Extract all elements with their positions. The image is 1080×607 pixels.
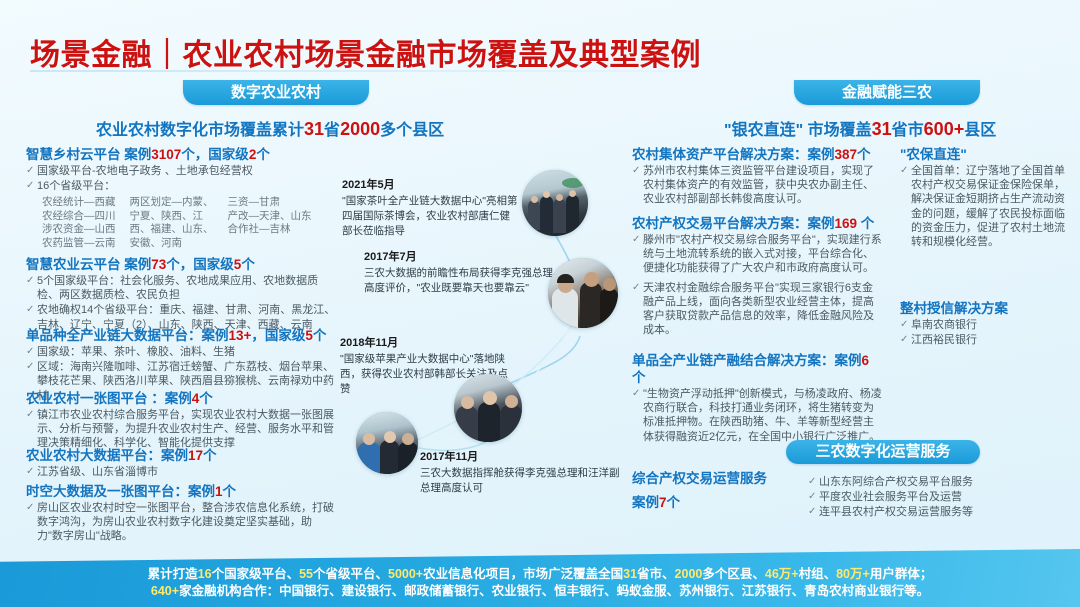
right-side-block-1-heading: 整村授信解决方案 — [900, 300, 1066, 317]
h-mid: 个，国家级 — [181, 147, 249, 162]
right-side-block-1: 整村授信解决方案 ✓阜南农商银行 ✓江西裕民银行 — [900, 300, 1066, 347]
province-col-1: 农经统计—西藏 农经综合—四川 涉农资金—山西 农药监管—云南 — [42, 196, 116, 250]
left-subtitle-num2: 2000 — [340, 119, 380, 139]
banner-text: 多个区县、 — [702, 567, 765, 581]
check-icon: ✓ — [632, 387, 643, 401]
left-block-4: 农业农村大数据平台：案例17个 ✓江苏省级、山东省淄博市 — [26, 447, 336, 479]
h-post: 个 — [223, 484, 237, 499]
banner-number: 16 — [198, 567, 212, 581]
h-num1: 6 — [862, 353, 870, 368]
right-subtitle-num2: 600+ — [924, 119, 965, 139]
timeline-date: 2017年7月 — [364, 250, 556, 265]
service-title-line1: 综合产权交易运营服务 — [632, 470, 792, 487]
province-platform-table: 农经统计—西藏 农经综合—四川 涉农资金—山西 农药监管—云南 两区划定—内蒙、… — [42, 196, 312, 250]
check-icon: ✓ — [26, 164, 37, 178]
h-post: 个 — [199, 391, 213, 406]
list-item: ✓"生物资产浮动抵押"创新模式，与杨凌政府、杨凌农商行联合，科技打通业务闭环，将… — [632, 387, 882, 444]
summary-banner-line-2: 640+家金融机构合作：中国银行、建设银行、邮政储蓄银行、农业银行、恒丰银行、蚂… — [0, 583, 1080, 600]
list-item-text: 国家级平台-农地电子政务 、土地承包经营权 — [37, 164, 332, 178]
province-col-3: 三资—甘肃 产改—天津、山东 合作社—吉林 — [228, 196, 312, 250]
timeline-text: 三农大数据指挥舱获得李克强总理和汪洋副总理高度认可 — [420, 467, 620, 494]
h-pre: 时空大数据及一张图平台：案例 — [26, 484, 215, 499]
check-icon: ✓ — [808, 475, 819, 489]
s-pre: 案例 — [632, 495, 659, 510]
check-icon: ✓ — [632, 233, 643, 247]
check-icon: ✓ — [26, 501, 37, 515]
list-item: ✓国家级平台-农地电子政务 、土地承包经营权 — [26, 164, 332, 178]
timeline-date: 2021年5月 — [342, 178, 518, 193]
list-item: ✓国家级：苹果、茶叶、橡胶、油料、生猪 — [26, 345, 336, 359]
summary-banner: 累计打造16个国家级平台、55个省级平台、5000+农业信息化项目，市场广泛覆盖… — [0, 549, 1080, 607]
banner-number: 5000+ — [388, 567, 423, 581]
timeline-note-1: 2017年7月 三农大数据的前瞻性布局获得李克强总理高度评价，"农业既要靠天也要… — [364, 250, 556, 296]
list-item-text: 国家级：苹果、茶叶、橡胶、油料、生猪 — [37, 345, 336, 359]
banner-text: 累计打造 — [148, 567, 198, 581]
left-block-0: 智慧乡村云平台 案例3107个，国家级2个 ✓国家级平台-农地电子政务 、土地承… — [26, 146, 332, 193]
list-item-text: 阜南农商银行 — [911, 318, 1066, 332]
timeline-photo-2 — [454, 374, 522, 442]
list-item-text: 5个国家级平台：社会化服务、农地成果应用、农地数据质检、两区数据质检、农民负担 — [37, 274, 336, 302]
summary-banner-line-1: 累计打造16个国家级平台、55个省级平台、5000+农业信息化项目，市场广泛覆盖… — [0, 566, 1080, 583]
banner-text: 村组、 — [799, 567, 837, 581]
check-icon: ✓ — [808, 490, 819, 504]
s-num: 7 — [659, 495, 667, 510]
right-block-0-heading: 农村集体资产平台解决方案：案例387个 — [632, 146, 882, 163]
left-block-3-heading: 农业农村一张图平台 ：案例4个 — [26, 390, 336, 407]
banner-number: 55 — [299, 567, 313, 581]
right-subtitle-mid: 省市 — [892, 122, 924, 139]
timeline-date: 2018年11月 — [340, 336, 516, 351]
timeline-panel: 2021年5月 "国家茶叶全产业链大数据中心"亮相第四届国际茶博会，农业农村部唐… — [336, 150, 632, 520]
list-item: ✓平度农业社会服务平台及运营 — [808, 490, 1058, 504]
right-column-subtitle: "银农直连" 市场覆盖31省市600+县区 — [724, 116, 996, 140]
h-num1: 13+ — [229, 328, 252, 343]
list-item-text: 滕州市"农村产权交易综合服务平台"，实现建行系统与土地流转系统的嵌入式对接，平台… — [643, 233, 882, 276]
right-block-0: 农村集体资产平台解决方案：案例387个 ✓苏州市农村集体三资监管平台建设项目，实… — [632, 146, 882, 207]
left-block-1: 智慧农业云平台 案例73个，国家级5个 ✓5个国家级平台：社会化服务、农地成果应… — [26, 256, 336, 332]
check-icon: ✓ — [900, 333, 911, 347]
h-post: 个 — [857, 147, 871, 162]
left-block-1-heading: 智慧农业云平台 案例73个，国家级5个 — [26, 256, 336, 273]
check-icon: ✓ — [808, 505, 819, 519]
banner-text: 农业信息化项目，市场广泛覆盖全国 — [423, 567, 623, 581]
left-block-5: 时空大数据及一张图平台：案例1个 ✓房山区农业农村时空一张图平台，整合涉农信息化… — [26, 483, 336, 544]
timeline-photo-0 — [522, 170, 588, 236]
left-subtitle-mid: 省 — [324, 122, 340, 139]
list-item-text: 全国首单：辽宁落地了全国首单农村产权交易保证金保险保单，解决保证金短期挤占生产流… — [911, 164, 1066, 249]
check-icon: ✓ — [26, 408, 37, 422]
timeline-note-3: 2017年11月 三农大数据指挥舱获得李克强总理和汪洋副总理高度认可 — [420, 450, 620, 496]
right-block-1-heading: 农村产权交易平台解决方案：案例169 个 — [632, 215, 882, 232]
h-post: 个 — [632, 370, 646, 385]
check-icon: ✓ — [26, 179, 37, 193]
h-num2: 5 — [305, 328, 313, 343]
timeline-text: "国家茶叶全产业链大数据中心"亮相第四届国际茶博会，农业农村部唐仁健部长莅临指导 — [342, 195, 517, 237]
timeline-date: 2017年11月 — [420, 450, 620, 465]
province-col-2: 两区划定—内蒙、 宁夏、陕西、江 西、福建、山东、 安徽、河南 — [130, 196, 214, 250]
title-divider — [30, 70, 698, 72]
right-block-1: 农村产权交易平台解决方案：案例169 个 ✓滕州市"农村产权交易综合服务平台"，… — [632, 215, 882, 337]
list-item-text: 连平县农村产权交易运营服务等 — [819, 505, 1058, 519]
h-pre: 农业农村一张图平台 ：案例 — [26, 391, 192, 406]
list-item: ✓江西裕民银行 — [900, 333, 1066, 347]
list-item-text: 16个省级平台： — [37, 179, 332, 193]
list-item-text: "生物资产浮动抵押"创新模式，与杨凌政府、杨凌农商行联合，科技打通业务闭环，将生… — [643, 387, 882, 444]
service-items-block: ✓山东东阿综合产权交易平台服务 ✓平度农业社会服务平台及运营 ✓连平县农村产权交… — [808, 474, 1058, 520]
service-pill-digital-operation: 三农数字化运营服务 — [786, 440, 980, 464]
left-block-3: 农业农村一张图平台 ：案例4个 ✓镇江市农业农村综合服务平台，实现农业农村大数据… — [26, 390, 336, 451]
h-num1: 73 — [151, 257, 166, 272]
right-side-block-0: "农保直连" ✓全国首单：辽宁落地了全国首单农村产权交易保证金保险保单，解决保证… — [900, 146, 1066, 249]
left-subtitle-num1: 31 — [304, 119, 324, 139]
list-item-text: 江苏省级、山东省淄博市 — [37, 465, 336, 479]
h-post: 个 — [313, 328, 327, 343]
h-post: 个 — [241, 257, 255, 272]
right-subtitle-post: 县区 — [964, 122, 996, 139]
list-item: ✓江苏省级、山东省淄博市 — [26, 465, 336, 479]
check-icon: ✓ — [26, 465, 37, 479]
check-icon: ✓ — [26, 303, 37, 317]
list-item-text: 苏州市农村集体三资监管平台建设项目，实现了农村集体资产的有效监管，获中央农办副主… — [643, 164, 882, 207]
list-item: ✓5个国家级平台：社会化服务、农地成果应用、农地数据质检、两区数据质检、农民负担 — [26, 274, 336, 302]
timeline-photo-3 — [356, 412, 418, 474]
h-post: 个 — [203, 448, 217, 463]
right-block-2: 单品全产业链产融结合解决方案：案例6个 ✓"生物资产浮动抵押"创新模式，与杨凌政… — [632, 352, 882, 444]
h-pre: 单品全产业链产融结合解决方案：案例 — [632, 353, 862, 368]
h-pre: 智慧乡村云平台 案例 — [26, 147, 151, 162]
page-title: 场景金融｜农业农村场景金融市场覆盖及典型案例 — [30, 30, 701, 74]
h-post: 个 — [857, 216, 874, 231]
section-pill-digital-agriculture: 数字农业农村 — [183, 80, 369, 105]
list-item: ✓滕州市"农村产权交易综合服务平台"，实现建行系统与土地流转系统的嵌入式对接，平… — [632, 233, 882, 276]
list-item-text: 天津农村金融综合服务平台"实现三家银行6支金融产品上线，面向各类新型农业经营主体… — [643, 281, 882, 338]
section-pill-finance-empower: 金融赋能三农 — [794, 80, 980, 105]
h-num1: 387 — [835, 147, 858, 162]
banner-number: 46万+ — [765, 567, 799, 581]
left-block-5-heading: 时空大数据及一张图平台：案例1个 — [26, 483, 336, 500]
h-num1: 1 — [215, 484, 223, 499]
check-icon: ✓ — [632, 281, 643, 295]
left-block-2-heading: 单品种全产业链大数据平台：案例13+，国家级5个 — [26, 327, 336, 344]
list-item: ✓苏州市农村集体三资监管平台建设项目，实现了农村集体资产的有效监管，获中央农办副… — [632, 164, 882, 207]
check-icon: ✓ — [26, 345, 37, 359]
banner-text: 省市、 — [637, 567, 675, 581]
service-title-block: 综合产权交易运营服务 案例7个 — [632, 470, 792, 512]
check-icon: ✓ — [900, 164, 911, 178]
h-pre: 单品种全产业链大数据平台：案例 — [26, 328, 229, 343]
list-item: ✓连平县农村产权交易运营服务等 — [808, 505, 1058, 519]
banner-text: 个国家级平台、 — [212, 567, 300, 581]
h-num1: 169 — [835, 216, 858, 231]
h-pre: 农村产权交易平台解决方案：案例 — [632, 216, 835, 231]
left-column-subtitle: 农业农村数字化市场覆盖累计31省2000多个县区 — [96, 116, 444, 140]
s-post: 个 — [667, 495, 681, 510]
service-title-line2: 案例7个 — [632, 494, 792, 511]
h-mid: 个，国家级 — [166, 257, 234, 272]
check-icon: ✓ — [26, 360, 37, 374]
check-icon: ✓ — [26, 274, 37, 288]
list-item: ✓16个省级平台： — [26, 179, 332, 193]
list-item-text: 江西裕民银行 — [911, 333, 1066, 347]
right-side-block-0-heading: "农保直连" — [900, 146, 1066, 163]
banner-text: 个省级平台、 — [313, 567, 388, 581]
list-item: ✓阜南农商银行 — [900, 318, 1066, 332]
banner-number: 640+ — [151, 584, 179, 598]
banner-number: 80万+ — [836, 567, 870, 581]
list-item: ✓天津农村金融综合服务平台"实现三家银行6支金融产品上线，面向各类新型农业经营主… — [632, 281, 882, 338]
check-icon: ✓ — [900, 318, 911, 332]
h-post: 个 — [256, 147, 270, 162]
list-item: ✓房山区农业农村时空一张图平台，整合涉农信息化系统，打破数字鸿沟，为房山农业农村… — [26, 501, 336, 544]
left-block-4-heading: 农业农村大数据平台：案例17个 — [26, 447, 336, 464]
banner-text: 家金融机构合作：中国银行、建设银行、邮政储蓄银行、农业银行、恒丰银行、蚂蚁金服、… — [179, 584, 929, 598]
h-num1: 17 — [188, 448, 203, 463]
left-subtitle-post: 多个县区 — [380, 122, 444, 139]
left-block-0-heading: 智慧乡村云平台 案例3107个，国家级2个 — [26, 146, 332, 163]
h-pre: 智慧农业云平台 案例 — [26, 257, 151, 272]
h-mid: ，国家级 — [251, 328, 305, 343]
h-pre: 农业农村大数据平台：案例 — [26, 448, 188, 463]
check-icon: ✓ — [632, 164, 643, 178]
right-subtitle-pre: "银农直连" 市场覆盖 — [724, 122, 872, 139]
list-item: ✓镇江市农业农村综合服务平台，实现农业农村大数据一张图展示、分析与预警，为提升农… — [26, 408, 336, 451]
timeline-text: 三农大数据的前瞻性布局获得李克强总理高度评价，"农业既要靠天也要靠云" — [364, 267, 553, 294]
banner-number: 31 — [623, 567, 637, 581]
list-item-text: 山东东阿综合产权交易平台服务 — [819, 475, 1058, 489]
h-num1: 3107 — [151, 147, 181, 162]
list-item: ✓山东东阿综合产权交易平台服务 — [808, 475, 1058, 489]
list-item-text: 房山区农业农村时空一张图平台，整合涉农信息化系统，打破数字鸿沟，为房山农业农村数… — [37, 501, 336, 544]
right-subtitle-num1: 31 — [872, 119, 892, 139]
banner-number: 2000 — [675, 567, 703, 581]
left-subtitle-pre: 农业农村数字化市场覆盖累计 — [96, 122, 304, 139]
right-block-2-heading: 单品全产业链产融结合解决方案：案例6个 — [632, 352, 882, 386]
list-item: ✓全国首单：辽宁落地了全国首单农村产权交易保证金保险保单，解决保证金短期挤占生产… — [900, 164, 1066, 249]
list-item-text: 镇江市农业农村综合服务平台，实现农业农村大数据一张图展示、分析与预警，为提升农业… — [37, 408, 336, 451]
timeline-photo-1 — [548, 258, 618, 328]
slide-canvas: 场景金融｜农业农村场景金融市场覆盖及典型案例 数字农业农村 金融赋能三农 农业农… — [0, 0, 1080, 607]
banner-text: 用户群体； — [870, 567, 933, 581]
h-pre: 农村集体资产平台解决方案：案例 — [632, 147, 835, 162]
list-item-text: 平度农业社会服务平台及运营 — [819, 490, 1058, 504]
timeline-note-0: 2021年5月 "国家茶叶全产业链大数据中心"亮相第四届国际茶博会，农业农村部唐… — [342, 178, 518, 239]
